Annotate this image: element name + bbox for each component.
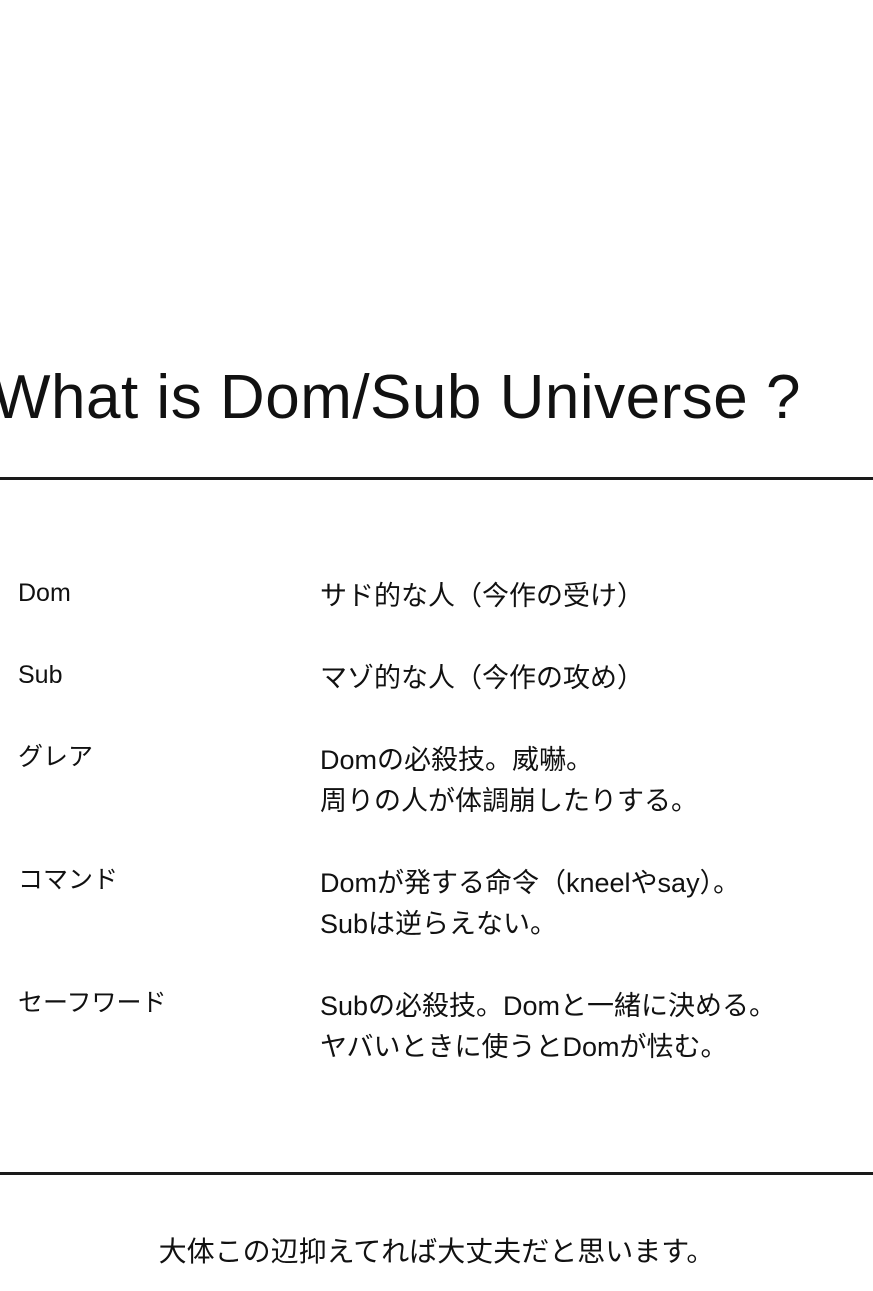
glossary-description: マゾ的な人（今作の攻め） (320, 658, 644, 699)
description-line: マゾ的な人（今作の攻め） (320, 658, 644, 699)
glossary-description: サド的な人（今作の受け） (320, 576, 644, 617)
list-item: Dom サド的な人（今作の受け） (0, 576, 873, 658)
list-item: セーフワード Subの必殺技。Domと一緒に決める。 ヤバいときに使うとDomが… (0, 986, 873, 1076)
description-line: Subの必殺技。Domと一緒に決める。 (320, 986, 776, 1027)
description-line: サド的な人（今作の受け） (320, 576, 644, 617)
glossary-description: Subの必殺技。Domと一緒に決める。 ヤバいときに使うとDomが怯む。 (320, 986, 776, 1068)
footer-note: 大体この辺抑えてれば大丈夫だと思います。 (0, 1232, 873, 1272)
description-line: Domの必殺技。威嚇。 (320, 740, 698, 781)
glossary-term: コマンド (18, 863, 118, 897)
top-divider (0, 477, 873, 480)
list-item: Sub マゾ的な人（今作の攻め） (0, 658, 873, 740)
list-item: グレア Domの必殺技。威嚇。 周りの人が体調崩したりする。 (0, 740, 873, 863)
page-title-block: What is Dom/Sub Universe ? (0, 352, 873, 452)
page-title: What is Dom/Sub Universe ? (0, 352, 873, 444)
description-line: Subは逆らえない。 (320, 904, 740, 945)
page-canvas: What is Dom/Sub Universe ? Dom サド的な人（今作の… (0, 0, 873, 1291)
glossary-term: Dom (18, 576, 71, 610)
glossary-term: Sub (18, 658, 62, 692)
glossary-description: Domが発する命令（kneelやsay）。 Subは逆らえない。 (320, 863, 740, 945)
list-item: コマンド Domが発する命令（kneelやsay）。 Subは逆らえない。 (0, 863, 873, 986)
bottom-divider (0, 1172, 873, 1175)
glossary-term: グレア (18, 740, 93, 774)
glossary-description: Domの必殺技。威嚇。 周りの人が体調崩したりする。 (320, 740, 698, 822)
description-line: Domが発する命令（kneelやsay）。 (320, 863, 740, 904)
glossary-list: Dom サド的な人（今作の受け） Sub マゾ的な人（今作の攻め） グレア Do… (0, 576, 873, 1076)
glossary-term: セーフワード (18, 986, 167, 1020)
description-line: 周りの人が体調崩したりする。 (320, 781, 698, 822)
description-line: ヤバいときに使うとDomが怯む。 (320, 1027, 776, 1068)
